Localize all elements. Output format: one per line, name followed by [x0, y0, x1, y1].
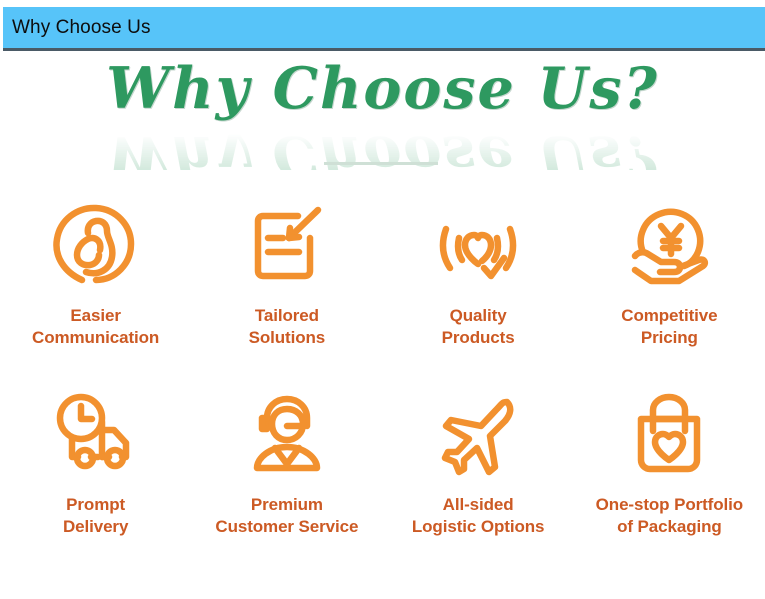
feature-item-quality-products[interactable]: Quality Products	[383, 196, 574, 350]
hero-title-text: Why Choose Us?	[106, 60, 659, 117]
feature-label: One-stop Portfolio of Packaging	[596, 494, 743, 539]
feature-item-premium-customer-service[interactable]: Premium Customer Service	[191, 388, 382, 539]
ear-listening-icon	[48, 196, 144, 292]
hero-divider	[324, 162, 438, 165]
feature-label: All-sided Logistic Options	[412, 494, 545, 539]
truck-clock-icon	[48, 388, 144, 480]
headset-agent-icon	[239, 388, 335, 480]
feature-item-one-stop-portfolio-of-packaging[interactable]: One-stop Portfolio of Packaging	[574, 388, 765, 539]
feature-item-competitive-pricing[interactable]: Competitive Pricing	[574, 196, 765, 350]
shopping-bag-heart-icon	[621, 388, 717, 480]
hero-wordart: Why Choose Us?	[0, 60, 765, 160]
hero-banner: Why Choose Us? Why Choose Us?	[0, 54, 765, 166]
feature-label: Easier Communication	[32, 305, 159, 350]
window-title: Why Choose Us	[3, 17, 151, 39]
feature-row-bottom: Prompt Delivery Premium Customer Service	[0, 388, 765, 539]
airplane-icon	[430, 388, 526, 480]
feature-item-prompt-delivery[interactable]: Prompt Delivery	[0, 388, 191, 539]
feature-item-all-sided-logistic-options[interactable]: All-sided Logistic Options	[383, 388, 574, 539]
document-pencil-icon	[239, 196, 335, 292]
feature-label: Quality Products	[442, 305, 515, 350]
feature-item-tailored-solutions[interactable]: Tailored Solutions	[191, 196, 382, 350]
feature-label: Competitive Pricing	[621, 305, 717, 350]
page-content: Why Choose Us? Why Choose Us? Easier Com…	[0, 54, 765, 599]
feature-item-easier-communication[interactable]: Easier Communication	[0, 196, 191, 350]
heart-check-signal-icon	[430, 196, 526, 292]
window-header: Why Choose Us	[3, 7, 765, 51]
hand-coin-yen-icon	[621, 196, 717, 292]
feature-row-top: Easier Communication Tailored Solutions	[0, 196, 765, 350]
feature-label: Prompt Delivery	[63, 494, 128, 539]
feature-label: Tailored Solutions	[249, 305, 326, 350]
feature-label: Premium Customer Service	[215, 494, 358, 539]
